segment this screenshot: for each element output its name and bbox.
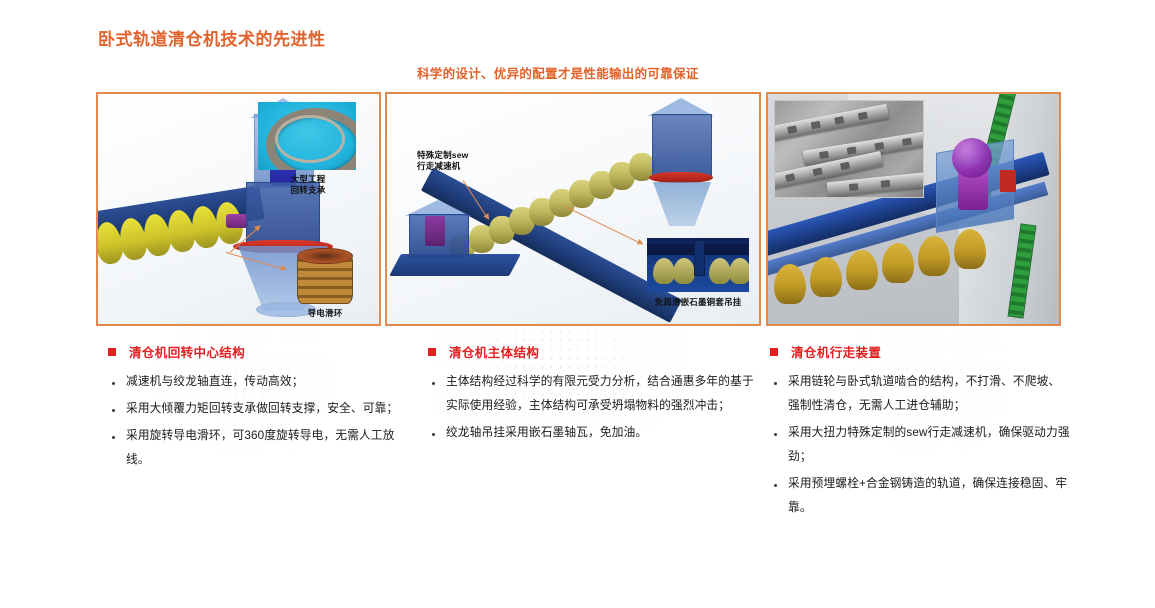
square-bullet-icon [108, 348, 116, 356]
graphite-bushing-detail-photo [647, 238, 749, 292]
text-column-travelling-device: 清仓机行走装置 采用链轮与卧式轨道啮合的结构，不打滑、不爬坡、强制性清仓，无需人… [770, 342, 1070, 523]
head-slewing-ring [649, 172, 713, 183]
image-panel-main-body: 特殊定制sew 行走减速机 免润滑嵌石墨铜套吊挂 [385, 92, 761, 326]
list-item: 减速机与绞龙轴直连，传动高效； [108, 370, 403, 394]
drive-coupling [226, 214, 248, 228]
bullet-list: 采用链轮与卧式轨道啮合的结构，不打滑、不爬坡、强制性清仓，无需人工进仓辅助； 采… [770, 370, 1070, 520]
page-title: 卧式轨道清仓机技术的先进性 [98, 25, 326, 50]
cast-rail-parts-photo [774, 100, 924, 198]
auger-flight [882, 243, 914, 283]
detail-flight [729, 258, 749, 284]
square-bullet-icon [428, 348, 436, 356]
text-column-rotary-center: 清仓机回转中心结构 减速机与绞龙轴直连，传动高效； 采用大倾覆力矩回转支承做回转… [108, 342, 403, 475]
image-panel-rotary-center: 大型工程 回转支承 导电滑环 [96, 92, 381, 326]
column-heading-label: 清仓机主体结构 [449, 342, 539, 361]
auger-flight [774, 264, 806, 304]
slip-ring-photo [293, 246, 355, 308]
slip-ring-top [297, 248, 353, 264]
auger-flight [954, 229, 986, 269]
callout-label-slip-ring: 导电滑环 [294, 308, 356, 319]
list-item: 采用链轮与卧式轨道啮合的结构，不打滑、不爬坡、强制性清仓，无需人工进仓辅助； [770, 370, 1070, 418]
callout-label-graphite-bushing: 免润滑嵌石墨铜套吊挂 [637, 297, 759, 308]
detail-flight [653, 258, 675, 284]
detail-flight [673, 258, 695, 284]
bullet-list: 减速机与绞龙轴直连，传动高效； 采用大倾覆力矩回转支承做回转支撑，安全、可靠； … [108, 370, 403, 472]
slide-root: 卧式轨道清仓机技术的先进性 科学的设计、优异的配置才是性能输出的可靠保证 [0, 0, 1155, 608]
list-item: 采用旋转导电滑环，可360度旋转导电，无需人工放线。 [108, 424, 403, 472]
list-item: 采用预埋螺栓+合金钢铸造的轨道，确保连接稳固、牢靠。 [770, 472, 1070, 520]
detail-flight [709, 258, 731, 284]
list-item: 采用大倾覆力矩回转支承做回转支撑，安全、可靠； [108, 397, 403, 421]
slewing-bearing-photo [258, 102, 356, 170]
cad-illustration-rotary-center: 大型工程 回转支承 导电滑环 [98, 94, 379, 324]
image-panel-travelling-device [766, 92, 1061, 326]
drive-motor-dome [952, 138, 992, 178]
text-column-main-body: 清仓机主体结构 主体结构经过科学的有限元受力分析，结合通惠多年的基于实际使用经验… [428, 342, 758, 448]
control-box [1000, 170, 1016, 192]
column-heading-label: 清仓机行走装置 [791, 342, 881, 361]
head-tower [652, 114, 712, 178]
square-bullet-icon [770, 348, 778, 356]
cad-illustration-travelling-device [768, 94, 1059, 324]
list-item: 主体结构经过科学的有限元受力分析，结合通惠多年的基于实际使用经验，主体结构可承受… [428, 370, 758, 418]
auger-flight [846, 250, 878, 290]
bullet-list: 主体结构经过科学的有限元受力分析，结合通惠多年的基于实际使用经验，主体结构可承受… [428, 370, 758, 445]
column-heading: 清仓机主体结构 [428, 342, 758, 361]
column-heading: 清仓机行走装置 [770, 342, 1070, 361]
sew-travel-gearbox [425, 216, 445, 246]
column-heading-label: 清仓机回转中心结构 [129, 342, 245, 361]
page-subtitle: 科学的设计、优异的配置才是性能输出的可靠保证 [417, 63, 699, 82]
bearing-inner-ring [275, 115, 345, 163]
callout-label-slewing-bearing: 大型工程 回转支承 [268, 174, 348, 195]
rail-part [827, 172, 924, 198]
detail-hanger-bearing [694, 240, 705, 276]
column-heading: 清仓机回转中心结构 [108, 342, 403, 361]
auger-flight [810, 257, 842, 297]
list-item: 绞龙轴吊挂采用嵌石墨轴瓦，免加油。 [428, 421, 758, 445]
rail-part [774, 104, 889, 142]
cad-illustration-main-body: 特殊定制sew 行走减速机 免润滑嵌石墨铜套吊挂 [387, 94, 759, 324]
list-item: 采用大扭力特殊定制的sew行走减速机，确保驱动力强劲； [770, 421, 1070, 469]
auger-flight [918, 236, 950, 276]
callout-label-sew-gearbox: 特殊定制sew 行走减速机 [417, 150, 513, 171]
